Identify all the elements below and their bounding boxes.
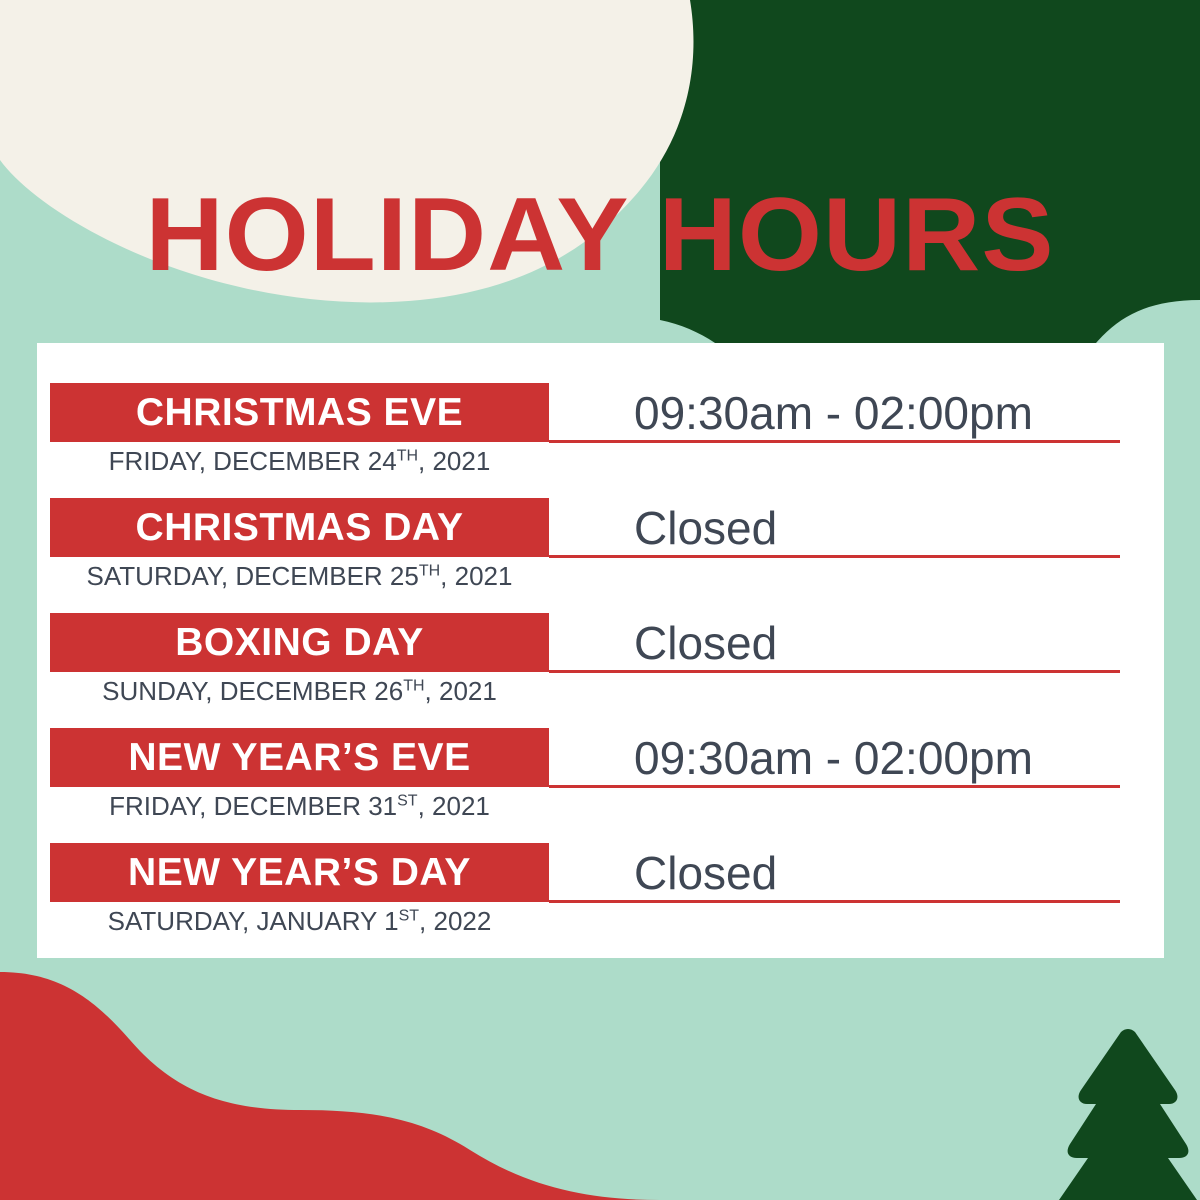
hours-value: Closed — [634, 617, 777, 669]
holiday-name-plate: BOXING DAY — [50, 613, 549, 672]
holiday-name-label: BOXING DAY — [175, 623, 423, 662]
holiday-name-label: NEW YEAR’S DAY — [128, 853, 471, 892]
hours-value: 09:30am - 02:00pm — [634, 387, 1033, 439]
holiday-name-label: NEW YEAR’S EVE — [128, 738, 470, 777]
holiday-date-ordinal: ST — [399, 907, 419, 924]
hours-underline: 09:30am - 02:00pm — [549, 379, 1120, 443]
holiday-date-label: SATURDAY, JANUARY 1ST, 2022 — [50, 906, 549, 936]
hours-value: Closed — [634, 502, 777, 554]
hours-underline: Closed — [549, 839, 1120, 903]
hours-underline: Closed — [549, 609, 1120, 673]
holiday-name-plate: CHRISTMAS EVE — [50, 383, 549, 442]
holiday-name-plate: CHRISTMAS DAY — [50, 498, 549, 557]
holiday-name-label: CHRISTMAS DAY — [136, 508, 464, 547]
hours-value: Closed — [634, 847, 777, 899]
table-row: CHRISTMAS DAY SATURDAY, DECEMBER 25TH, 2… — [37, 458, 1164, 573]
holiday-date-year: , 2022 — [419, 906, 491, 936]
table-row: CHRISTMAS EVE FRIDAY, DECEMBER 24TH, 202… — [37, 343, 1164, 458]
schedule-card: CHRISTMAS EVE FRIDAY, DECEMBER 24TH, 202… — [37, 343, 1164, 958]
page-title: HOLIDAY HOURS — [0, 183, 1200, 287]
holiday-hours-poster: HOLIDAY HOURS CHRISTMAS EVE FRIDAY, DECE… — [0, 0, 1200, 1200]
table-row: BOXING DAY SUNDAY, DECEMBER 26TH, 2021 C… — [37, 573, 1164, 688]
hours-underline: Closed — [549, 494, 1120, 558]
hours-value: 09:30am - 02:00pm — [634, 732, 1033, 784]
table-row: NEW YEAR’S DAY SATURDAY, JANUARY 1ST, 20… — [37, 803, 1164, 918]
holiday-name-plate: NEW YEAR’S DAY — [50, 843, 549, 902]
holiday-date-weekday: SATURDAY, JANUARY 1 — [108, 906, 399, 936]
schedule-rows: CHRISTMAS EVE FRIDAY, DECEMBER 24TH, 202… — [37, 343, 1164, 918]
hours-underline: 09:30am - 02:00pm — [549, 724, 1120, 788]
holiday-name-plate: NEW YEAR’S EVE — [50, 728, 549, 787]
holiday-name-label: CHRISTMAS EVE — [136, 393, 463, 432]
table-row: NEW YEAR’S EVE FRIDAY, DECEMBER 31ST, 20… — [37, 688, 1164, 803]
